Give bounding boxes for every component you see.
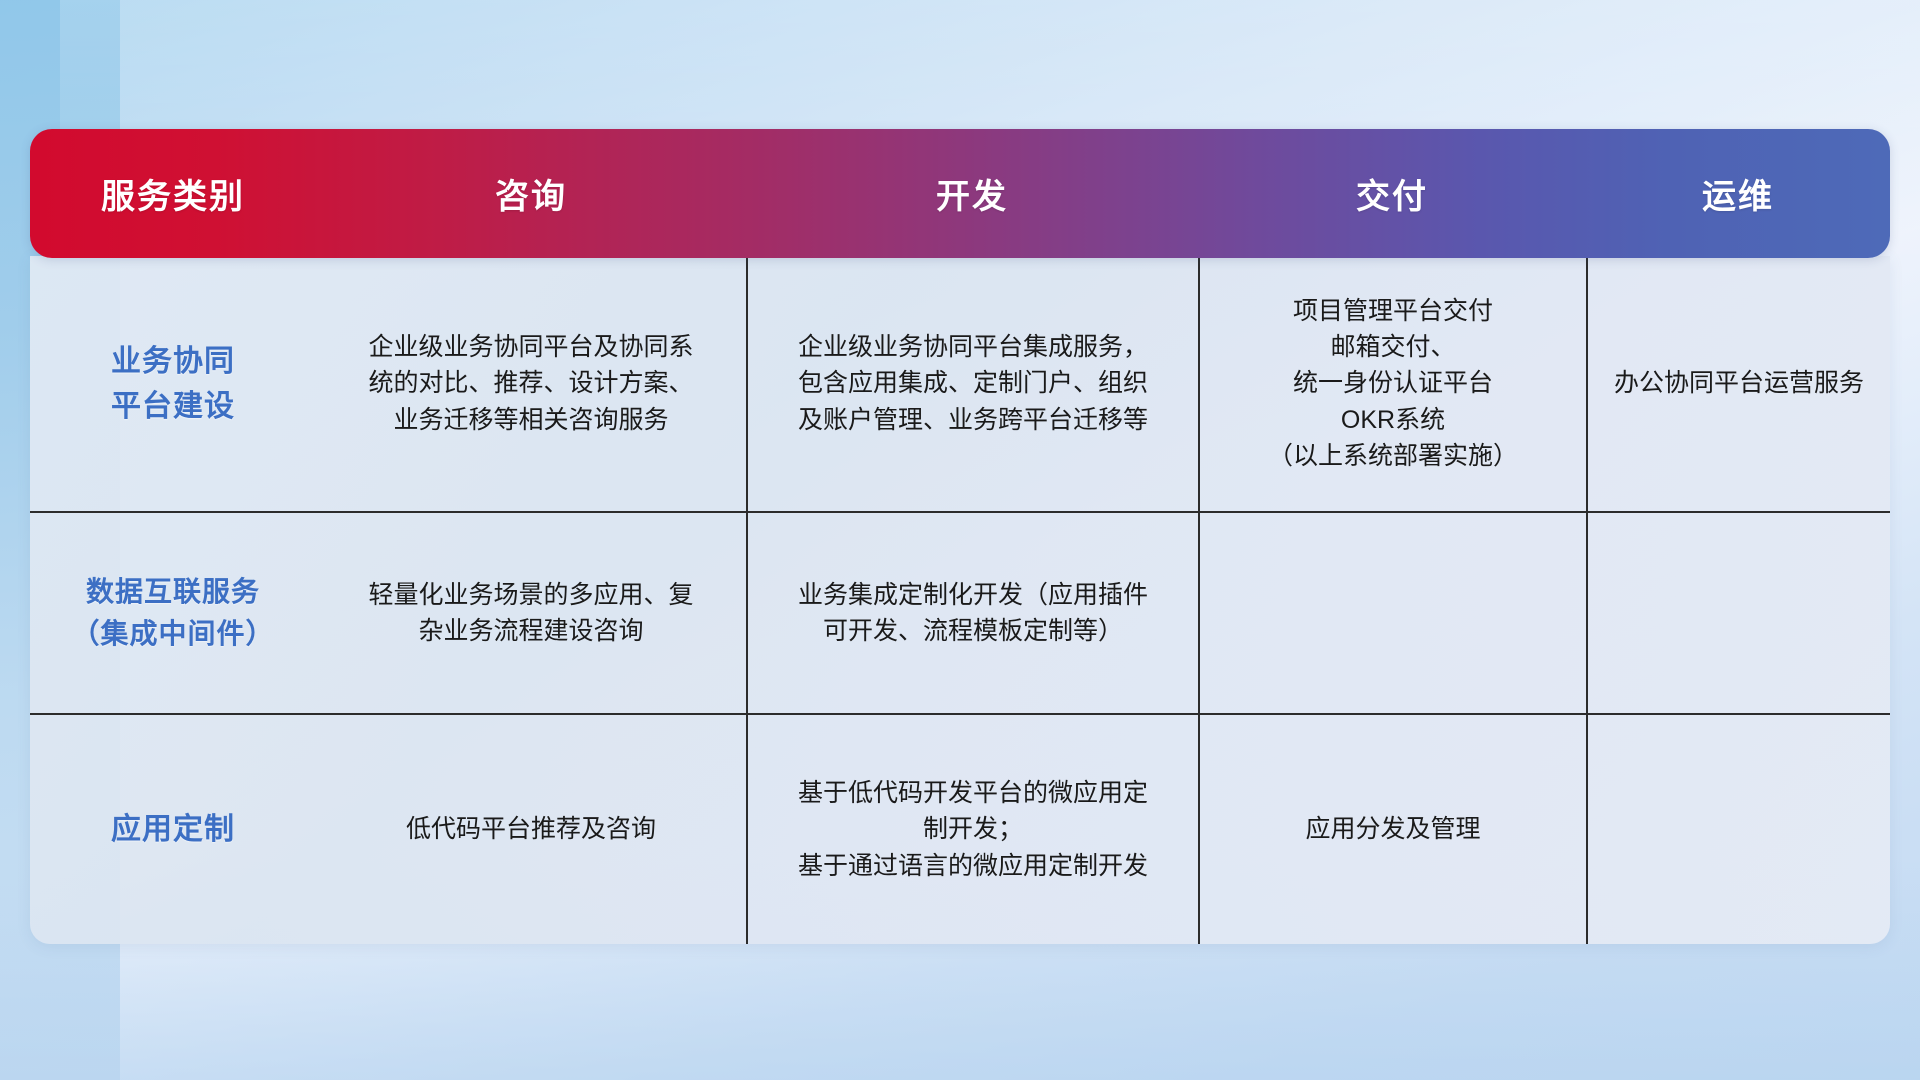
cell-row3-delivery: 应用分发及管理 [1198, 715, 1586, 944]
row-label-data-interconnection: 数据互联服务 （集成中间件） [30, 513, 316, 713]
table-row: 应用定制 低代码平台推荐及咨询 基于低代码开发平台的微应用定 制开发； 基于通过… [30, 713, 1890, 944]
table-row: 业务协同 平台建设 企业级业务协同平台及协同系 统的对比、推荐、设计方案、 业务… [30, 256, 1890, 511]
column-header-delivery: 交付 [1198, 169, 1586, 218]
row-label-business-collaboration: 业务协同 平台建设 [30, 256, 316, 511]
table-header-row: 服务类别 咨询 开发 交付 运维 [30, 129, 1890, 258]
cell-row1-delivery: 项目管理平台交付 邮箱交付、 统一身份认证平台 OKR系统 （以上系统部署实施） [1198, 256, 1586, 511]
cell-row2-development: 业务集成定制化开发（应用插件 可开发、流程模板定制等） [746, 513, 1198, 713]
column-header-consulting: 咨询 [316, 169, 746, 218]
table-row: 数据互联服务 （集成中间件） 轻量化业务场景的多应用、复 杂业务流程建设咨询 业… [30, 511, 1890, 713]
cell-row3-operations [1586, 715, 1890, 944]
cell-row2-operations [1586, 513, 1890, 713]
cell-row2-delivery [1198, 513, 1586, 713]
cell-row3-consulting: 低代码平台推荐及咨询 [316, 715, 746, 944]
cell-row3-development: 基于低代码开发平台的微应用定 制开发； 基于通过语言的微应用定制开发 [746, 715, 1198, 944]
cell-row1-operations: 办公协同平台运营服务 [1586, 256, 1890, 511]
column-header-development: 开发 [746, 169, 1198, 218]
column-header-service-category: 服务类别 [30, 169, 316, 218]
row-label-app-customization: 应用定制 [30, 715, 316, 944]
cell-row1-development: 企业级业务协同平台集成服务， 包含应用集成、定制门户、组织 及账户管理、业务跨平… [746, 256, 1198, 511]
column-header-operations: 运维 [1586, 169, 1890, 218]
cell-row2-consulting: 轻量化业务场景的多应用、复 杂业务流程建设咨询 [316, 513, 746, 713]
table-body: 业务协同 平台建设 企业级业务协同平台及协同系 统的对比、推荐、设计方案、 业务… [30, 256, 1890, 944]
cell-row1-consulting: 企业级业务协同平台及协同系 统的对比、推荐、设计方案、 业务迁移等相关咨询服务 [316, 256, 746, 511]
service-matrix-table: 服务类别 咨询 开发 交付 运维 业务协同 平台建设 企业级业务协同平台及协同系… [30, 129, 1890, 944]
